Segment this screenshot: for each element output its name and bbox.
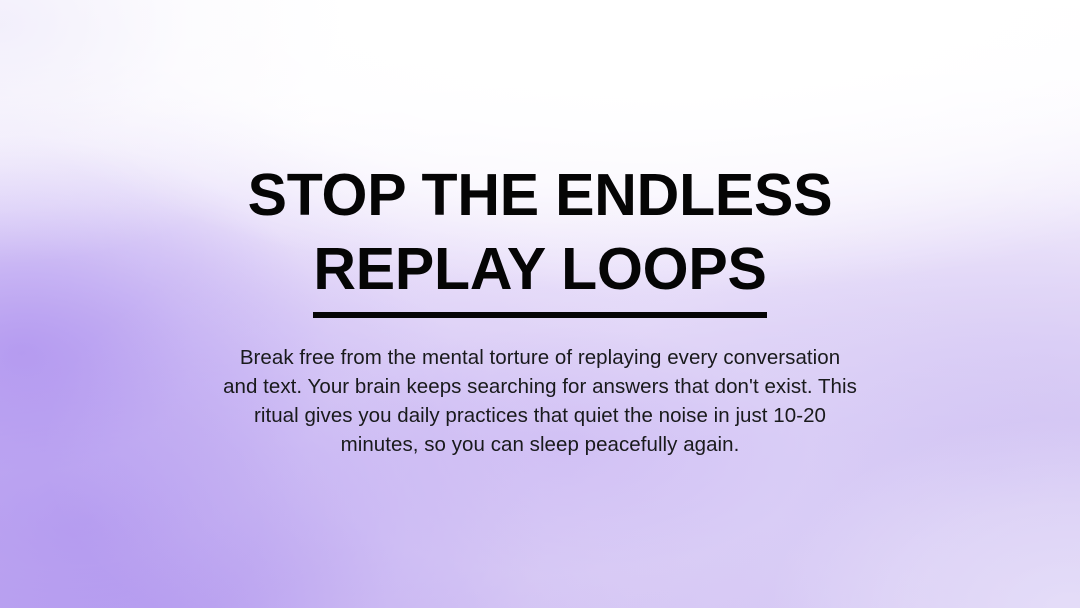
headline-line-1: STOP THE ENDLESS [248, 159, 833, 231]
body-copy-line-2: and text. Your brain keeps searching for… [160, 372, 920, 401]
headline: STOP THE ENDLESS REPLAY LOOPS [248, 0, 833, 305]
headline-line-2-wrapper: REPLAY LOOPS [248, 233, 833, 305]
body-copy-line-3: ritual gives you daily practices that qu… [160, 401, 920, 430]
body-copy: Break free from the mental torture of re… [160, 343, 920, 459]
body-copy-line-4: minutes, so you can sleep peacefully aga… [160, 430, 920, 459]
slide-canvas: STOP THE ENDLESS REPLAY LOOPS Break free… [0, 0, 1080, 608]
headline-line-2-underline-wrap: REPLAY LOOPS [313, 233, 766, 305]
slide-content: STOP THE ENDLESS REPLAY LOOPS Break free… [0, 0, 1080, 608]
headline-line-2: REPLAY LOOPS [313, 236, 766, 302]
headline-underline-rule [313, 312, 766, 318]
body-copy-line-1: Break free from the mental torture of re… [160, 343, 920, 372]
